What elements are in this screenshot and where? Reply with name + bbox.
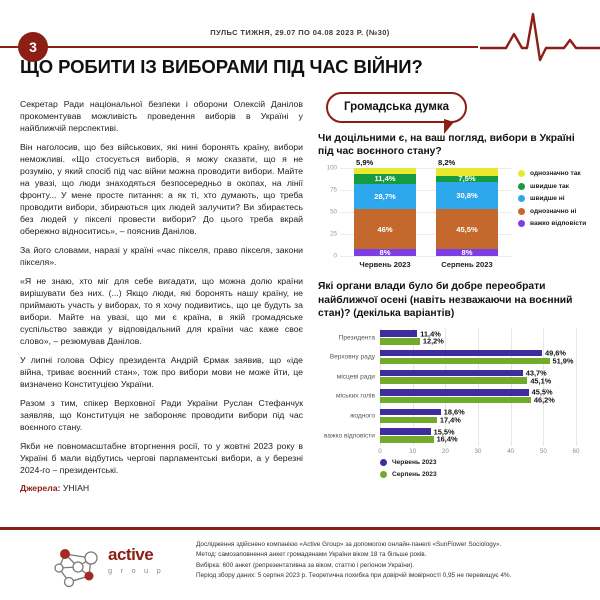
chart1-legend-item: швидше ні [518, 195, 600, 202]
chart2-category-label: місцеві ради [337, 373, 375, 380]
chart1-gridline [340, 256, 512, 257]
chart2-bar-value: 12,2% [423, 337, 444, 346]
chart1-category-label: Серпень 2023 [436, 260, 498, 269]
chart2-category-label: міських голів [336, 393, 375, 400]
chart2-category-label: жодного [350, 413, 375, 420]
chart2-title: Які органи влади було би добре переобрат… [318, 280, 590, 320]
chart2-category-label: Президента [339, 334, 375, 341]
chart2-category-group: місцеві ради43,7%45,1% [380, 367, 576, 387]
chart2-x-tick: 40 [507, 448, 514, 455]
chart1-legend: однозначно такшвидше такшвидше ніоднозна… [518, 170, 600, 233]
chart2-legend: Червень 2023Серпень 2023 [380, 459, 437, 484]
page-title: ЩО РОБИТИ ІЗ ВИБОРАМИ ПІД ЧАС ВІЙНИ? [20, 56, 450, 78]
chart2-bar: 17,4% [380, 417, 437, 423]
chart2-bar: 12,2% [380, 338, 420, 344]
chart2-category-label: Верховну раду [330, 354, 375, 361]
article-paragraph: Секретар Ради національної безпеки і обо… [20, 98, 303, 134]
chart1-legend-item: однозначно ні [518, 208, 600, 215]
speech-bubble-tail-icon [444, 119, 454, 134]
legend-color-dot [380, 459, 387, 466]
chart2-bar-value: 46,2% [534, 396, 555, 405]
chart2-x-tick: 50 [540, 448, 547, 455]
chart2-category-group: жодного18,6%17,4% [380, 406, 576, 426]
chart2-x-tick: 30 [475, 448, 482, 455]
chart2-category-group: важко відповісти15,5%16,4% [380, 426, 576, 446]
charts-column: Громадська думка Чи доцільними є, на ваш… [318, 92, 590, 484]
article-paragraph: Він наголосив, що без військових, які ни… [20, 141, 303, 237]
chart2-x-tick: 20 [442, 448, 449, 455]
article-column: Секретар Ради національної безпеки і обо… [20, 98, 303, 493]
chart1-segment: 8% [436, 249, 498, 256]
article-paragraph: За його словами, наразі у країні «час пі… [20, 244, 303, 268]
chart2-bar-value: 16,4% [437, 435, 458, 444]
chart2-bar: 18,6% [380, 409, 441, 415]
chart1-segment: 5,9% [354, 168, 416, 173]
chart1-segment-label: 5,9% [356, 158, 373, 167]
chart2-category-group: Президента11,4%12,2% [380, 328, 576, 348]
chart2-category-label: важко відповісти [324, 432, 375, 439]
legend-color-dot [518, 208, 525, 215]
chart2-bar: 45,5% [380, 389, 529, 395]
methodology-line: Вибірка: 600 анкет (репрезентативна за в… [196, 561, 588, 571]
legend-label: однозначно так [530, 170, 581, 177]
legend-label: Червень 2023 [392, 459, 437, 466]
page-number-badge: 3 [18, 32, 48, 62]
chart2-bar: 16,4% [380, 436, 434, 442]
chart1-y-tick: 25 [330, 231, 337, 238]
sources-line: Джерела: УНІАН [20, 483, 303, 493]
methodology-line: Період збору даних: 5 серпня 2023 р. Тео… [196, 571, 588, 581]
article-paragraph: Разом з тим, спікер Верховної Ради Украї… [20, 397, 303, 433]
article-paragraph: У липні голова Офісу президента Андрій Є… [20, 354, 303, 390]
chart2-bar: 45,1% [380, 377, 527, 383]
chart1-plot-area: 8%46%28,7%11,4%5,9%Червень 20238%45,5%30… [340, 168, 508, 256]
chart2-bar: 15,5% [380, 428, 431, 434]
chart2-bar: 43,7% [380, 370, 523, 376]
legend-label: швидше так [530, 183, 569, 190]
legend-color-dot [518, 170, 525, 177]
chart2-x-tick: 60 [573, 448, 580, 455]
chart2-x-tick: 0 [378, 448, 381, 455]
chart1-y-tick: 50 [330, 209, 337, 216]
chart2-legend-item: Серпень 2023 [380, 471, 437, 478]
chart2-plot-area: Президента11,4%12,2%Верховну раду49,6%51… [380, 328, 576, 446]
chart2-bar: 11,4% [380, 330, 417, 336]
chart2-category-group: Верховну раду49,6%51,9% [380, 347, 576, 367]
legend-label: однозначно ні [530, 208, 576, 215]
legend-label: Серпень 2023 [392, 471, 437, 478]
chart1-segment: 8% [354, 249, 416, 256]
chart1-segment: 28,7% [354, 184, 416, 209]
logo-subname: g r o u p [108, 566, 164, 575]
chart1-legend-item: швидше так [518, 183, 600, 190]
chart1-segment: 30,8% [436, 182, 498, 209]
logo-name: active [108, 546, 164, 563]
chart2-x-axis: 0102030405060 [380, 446, 576, 458]
chart2-bar: 46,2% [380, 397, 531, 403]
page-body: Секретар Ради національної безпеки і обо… [0, 92, 600, 522]
chart1-segment: 8,2% [436, 168, 498, 175]
chart2-bar-value: 17,4% [440, 415, 461, 424]
chart2-legend-item: Червень 2023 [380, 459, 437, 466]
page-footer: active g r o u p Дослідження здійснено к… [0, 534, 600, 600]
chart1-category-label: Червень 2023 [354, 260, 416, 269]
infographic-page: 3 ПУЛЬС ТИЖНЯ, 29.07 ПО 04.08 2023 Р. (№… [0, 0, 600, 600]
heartbeat-pulse-icon [480, 8, 600, 64]
section-badge: Громадська думка [326, 92, 590, 132]
chart2-bar: 49,6% [380, 350, 542, 356]
chart1-y-tick: 100 [327, 165, 337, 172]
chart1-y-tick: 75 [330, 187, 337, 194]
chart2-gridline [576, 328, 577, 446]
stacked-column-chart: 0255075100 8%46%28,7%11,4%5,9%Червень 20… [318, 164, 590, 276]
legend-color-dot [518, 195, 525, 202]
legend-color-dot [518, 220, 525, 227]
chart1-legend-item: однозначно так [518, 170, 600, 177]
logo-wordmark: active g r o u p [108, 546, 164, 575]
chart2-x-tick: 10 [409, 448, 416, 455]
chart1-column: 8%46%28,7%11,4%5,9%Червень 2023 [354, 168, 416, 256]
chart1-segment: 7,5% [436, 176, 498, 183]
methodology-line: Метод: самозаповнення анкет громадянами … [196, 550, 588, 560]
chart1-segment: 46% [354, 209, 416, 249]
chart2-bar: 51,9% [380, 358, 550, 364]
chart1-y-axis: 0255075100 [318, 164, 340, 256]
chart1-segment: 45,5% [436, 209, 498, 249]
legend-color-dot [518, 183, 525, 190]
chart2-bar-value: 51,9% [553, 357, 574, 366]
grouped-bar-chart: Президента11,4%12,2%Верховну раду49,6%51… [318, 326, 590, 484]
chart1-legend-item: важко відповісти [518, 220, 600, 227]
footer-divider [0, 527, 600, 530]
chart1-title: Чи доцільними є, на ваш погляд, вибори в… [318, 132, 590, 158]
legend-label: швидше ні [530, 195, 565, 202]
article-paragraph: Якби не повномасштабне вторгнення росії,… [20, 440, 303, 476]
methodology-line: Дослідження здійснено компанією «Active … [196, 540, 588, 550]
chart2-category-group: міських голів45,5%46,2% [380, 387, 576, 407]
chart1-column: 8%45,5%30,8%7,5%8,2%Серпень 2023 [436, 168, 498, 256]
chart1-segment-label: 8,2% [438, 158, 455, 167]
sources-label: Джерела: [20, 483, 60, 493]
legend-label: важко відповісти [530, 220, 586, 227]
article-paragraph: «Я не знаю, хто міг для себе вигадати, щ… [20, 275, 303, 347]
sources-value: УНІАН [63, 483, 89, 493]
legend-color-dot [380, 471, 387, 478]
chart2-bar-value: 45,1% [530, 376, 551, 385]
chart1-segment: 11,4% [354, 174, 416, 184]
chart1-y-tick: 0 [334, 253, 337, 260]
methodology-note: Дослідження здійснено компанією «Active … [196, 540, 588, 582]
